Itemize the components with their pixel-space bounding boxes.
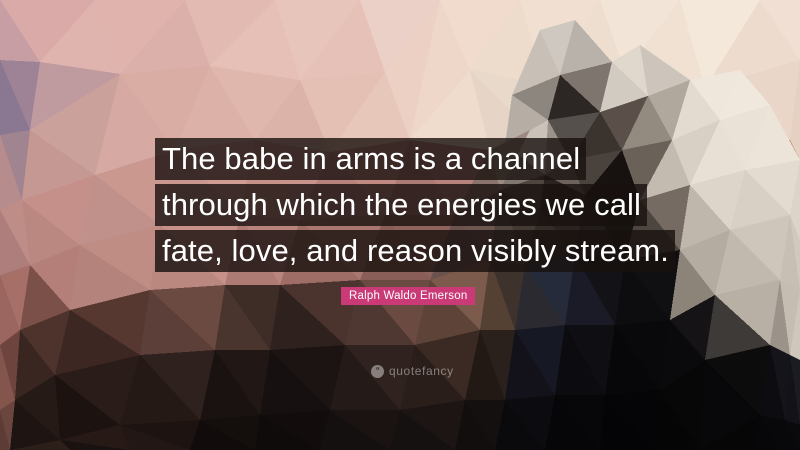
quote-line-2: through which the energies we call [155,184,647,226]
author-badge: Ralph Waldo Emerson [341,287,475,305]
watermark-brand: quotefancy [389,365,454,378]
quote-line-3: fate, love, and reason visibly stream. [155,230,675,272]
quote-mark-icon: “ [371,365,384,378]
quote-mark-glyph: “ [376,367,380,375]
watermark: “ quotefancy [371,365,454,378]
quote-poster: The babe in arms is a channel through wh… [0,0,800,450]
quote-text-block: The babe in arms is a channel through wh… [155,138,647,272]
quote-line-1: The babe in arms is a channel [155,138,586,180]
